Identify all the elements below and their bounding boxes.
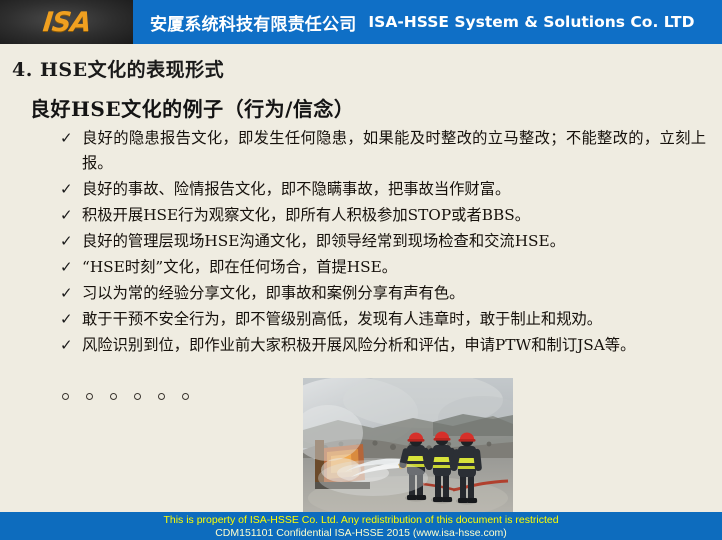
footer-copyright-line: This is property of ISA-HSSE Co. Ltd. An… [163,514,558,527]
slide-root: ISA 安厦系统科技有限责任公司 ISA-HSSE System & Solut… [0,0,722,540]
isa-logo-icon: ISA [41,7,92,38]
list-item: ✓ 风险识别到位，即作业前大家积极开展风险分析和评估，申请PTW和制订JSA等。 [58,333,706,358]
bullet-list: ✓ 良好的隐患报告文化，即发生任何隐患，如果能及时整改的立马整改；不能整改的，立… [58,126,706,359]
circle-bullet-icon [182,393,189,400]
list-item-label: “HSE时刻”文化，即在任何场合，首提HSE。 [82,255,706,280]
footer-confidential-line: CDM151101 Confidential ISA-HSSE 2015 (ww… [215,527,507,540]
section-title: 4. HSE文化的表现形式 [12,55,224,82]
check-icon: ✓ [58,307,82,332]
circle-bullet-icon [158,393,165,400]
list-item-label: 习以为常的经验分享文化，即事故和案例分享有声有色。 [82,281,706,306]
list-item-label: 良好的管理层现场HSE沟通文化，即领导经常到现场检查和交流HSE。 [82,229,706,254]
circle-bullet-icon [62,393,69,400]
list-item-label: 积极开展HSE行为观察文化，即所有人积极参加STOP或者BBS。 [82,203,706,228]
firefighter-training-photo [303,378,513,513]
list-item: ✓ 良好的管理层现场HSE沟通文化，即领导经常到现场检查和交流HSE。 [58,229,706,254]
check-icon: ✓ [58,281,82,306]
header-title-bar: 安厦系统科技有限责任公司 ISA-HSSE System & Solutions… [133,0,722,44]
page-title: 良好HSE文化的例子（行为/信念） [30,93,354,122]
photo-illustration [303,378,513,513]
list-item: ✓ 敢于干预不安全行为，即不管级别高低，发现有人违章时，敢于制止和规劝。 [58,307,706,332]
trailing-dots [62,393,189,400]
slide-footer: This is property of ISA-HSSE Co. Ltd. An… [0,512,722,540]
list-item: ✓ “HSE时刻”文化，即在任何场合，首提HSE。 [58,255,706,280]
list-item: ✓ 积极开展HSE行为观察文化，即所有人积极参加STOP或者BBS。 [58,203,706,228]
list-item-label: 敢于干预不安全行为，即不管级别高低，发现有人违章时，敢于制止和规劝。 [82,307,706,332]
check-icon: ✓ [58,255,82,280]
check-icon: ✓ [58,203,82,228]
list-item: ✓ 习以为常的经验分享文化，即事故和案例分享有声有色。 [58,281,706,306]
circle-bullet-icon [86,393,93,400]
check-icon: ✓ [58,333,82,358]
logo-pane: ISA [0,0,133,44]
company-name-en: ISA-HSSE System & Solutions Co. LTD [368,13,694,31]
slide-header: ISA 安厦系统科技有限责任公司 ISA-HSSE System & Solut… [0,0,722,44]
list-item: ✓ 良好的隐患报告文化，即发生任何隐患，如果能及时整改的立马整改；不能整改的，立… [58,126,706,176]
list-item-label: 风险识别到位，即作业前大家积极开展风险分析和评估，申请PTW和制订JSA等。 [82,333,706,358]
circle-bullet-icon [110,393,117,400]
check-icon: ✓ [58,229,82,254]
circle-bullet-icon [134,393,141,400]
list-item-label: 良好的隐患报告文化，即发生任何隐患，如果能及时整改的立马整改；不能整改的，立刻上… [82,126,706,176]
list-item: ✓ 良好的事故、险情报告文化，即不隐瞒事故，把事故当作财富。 [58,177,706,202]
list-item-label: 良好的事故、险情报告文化，即不隐瞒事故，把事故当作财富。 [82,177,706,202]
check-icon: ✓ [58,126,82,151]
company-name-cn: 安厦系统科技有限责任公司 [150,10,356,35]
check-icon: ✓ [58,177,82,202]
